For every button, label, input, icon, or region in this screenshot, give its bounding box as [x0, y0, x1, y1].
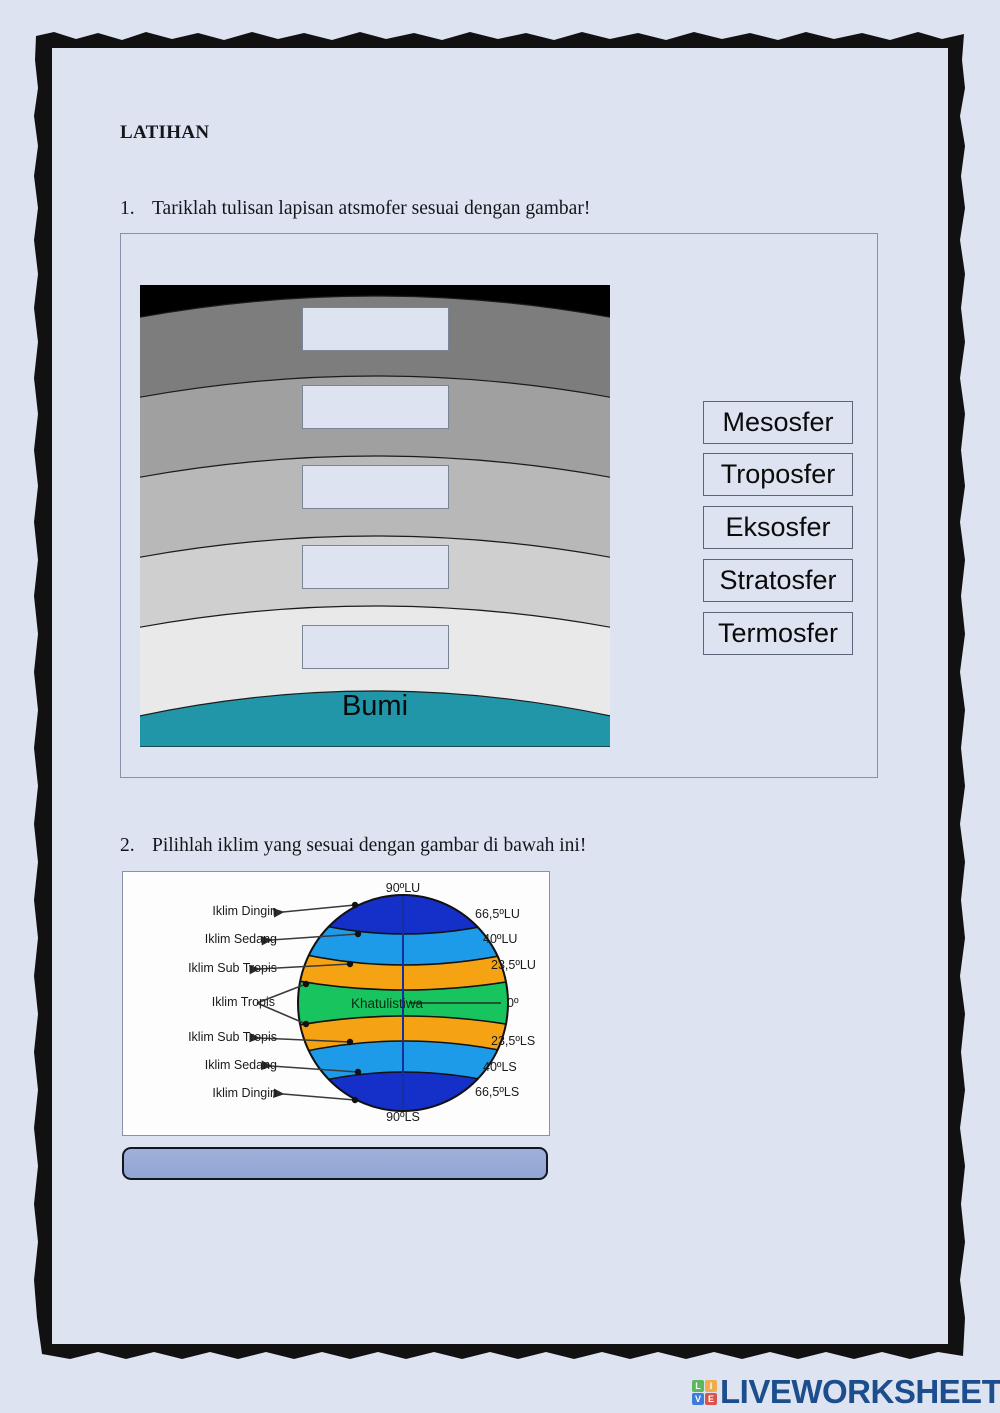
- climate-label-left-2: Iklim Sedang: [145, 932, 277, 946]
- chip-termosfer[interactable]: Termosfer: [703, 612, 853, 655]
- climate-label-left-3: Iklim Sub Tropis: [133, 961, 277, 975]
- latitude-label-2: 40ºLU: [483, 932, 517, 946]
- climate-label-left-6: Iklim Sedang: [145, 1058, 277, 1072]
- dropzone-mesosfer[interactable]: [302, 465, 449, 509]
- north-pole-label: 90ºLU: [368, 881, 438, 895]
- logo-color-grid: L I V E: [692, 1380, 717, 1405]
- svg-text:Khatulistiwa: Khatulistiwa: [351, 996, 424, 1011]
- liveworksheets-logo: L I V E LIVEWORKSHEETS: [692, 1374, 1000, 1410]
- question-2-number: 2.: [120, 835, 135, 857]
- chip-troposfer[interactable]: Troposfer: [703, 453, 853, 496]
- latitude-label-3: 23,5ºLU: [491, 958, 536, 972]
- dropzone-troposfer[interactable]: [302, 625, 449, 669]
- dropzone-termosfer[interactable]: [302, 385, 449, 429]
- climate-answer-select[interactable]: [122, 1147, 548, 1180]
- logo-wordmark: LIVEWORKSHEETS: [720, 1373, 1000, 1411]
- logo-cell-l: L: [692, 1380, 704, 1392]
- south-pole-label: 90ºLS: [368, 1110, 438, 1124]
- climate-label-left-7: Iklim Dingin: [145, 1086, 277, 1100]
- climate-label-left-5: Iklim Sub Tropis: [133, 1030, 277, 1044]
- question-1-text: Tariklah tulisan lapisan atsmofer sesuai…: [152, 198, 590, 220]
- latitude-label-7: 66,5ºLS: [475, 1085, 519, 1099]
- latitude-label-6: 40ºLS: [483, 1060, 517, 1074]
- question-1-number: 1.: [120, 198, 135, 220]
- chip-stratosfer[interactable]: Stratosfer: [703, 559, 853, 602]
- page-title: LATIHAN: [120, 122, 209, 144]
- dropzone-stratosfer[interactable]: [302, 545, 449, 589]
- svg-text:Bumi: Bumi: [342, 690, 408, 722]
- latitude-label-4: 0º: [507, 996, 519, 1010]
- climate-zones-diagram: Khatulistiwa Iklim Dingin Iklim Sedang I…: [122, 871, 550, 1136]
- logo-cell-i: I: [705, 1380, 717, 1392]
- chip-eksosfer[interactable]: Eksosfer: [703, 506, 853, 549]
- logo-cell-v: V: [692, 1393, 704, 1405]
- latitude-label-1: 66,5ºLU: [475, 907, 520, 921]
- latitude-label-5: 23,5ºLS: [491, 1034, 535, 1048]
- dropzone-eksosfer[interactable]: [302, 307, 449, 351]
- climate-label-left-1: Iklim Dingin: [145, 904, 277, 918]
- logo-cell-e: E: [705, 1393, 717, 1405]
- question-2-text: Pilihlah iklim yang sesuai dengan gambar…: [152, 835, 586, 857]
- climate-label-left-4: Iklim Tropis: [145, 995, 275, 1009]
- atmosphere-diagram: Bumi: [140, 285, 610, 747]
- chip-mesosfer[interactable]: Mesosfer: [703, 401, 853, 444]
